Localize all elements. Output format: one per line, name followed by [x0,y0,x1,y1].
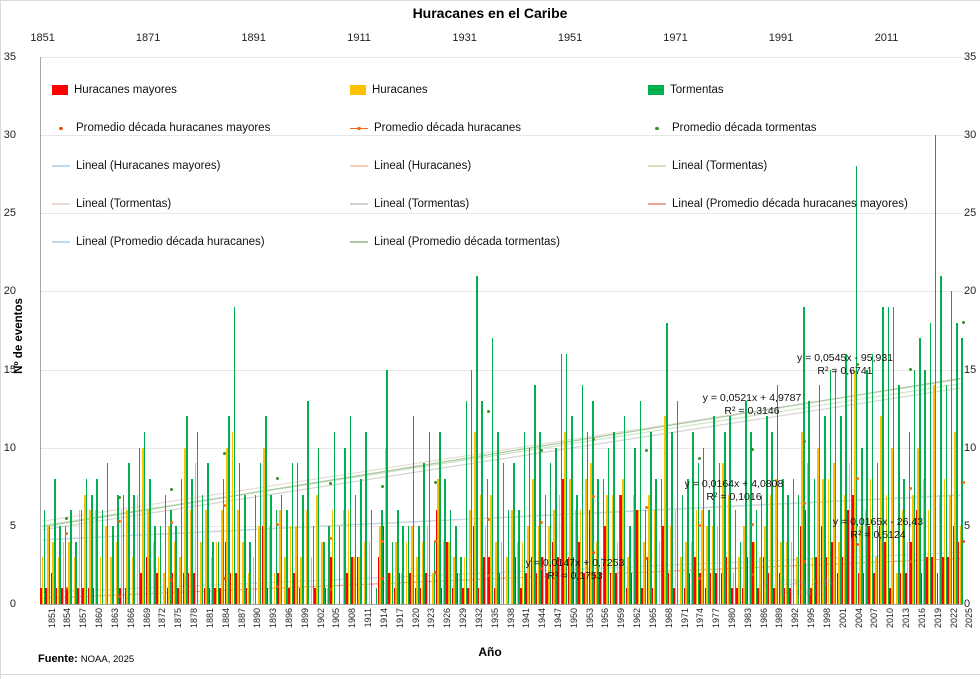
bar [402,526,404,604]
r-squared-text: R² = 0,3421 [763,588,836,598]
y-axis-tick-right: 35 [964,51,980,63]
y-axis-tick-right: 20 [964,285,980,297]
x-axis-tick: 1857 [78,608,88,628]
x-axis-tick: 1956 [600,608,610,628]
legend-label: Lineal (Promedio década huracanes) [76,236,265,248]
y-axis-tick-right: 10 [964,442,980,454]
x-axis-tick: 1872 [157,608,167,628]
legend-row: Lineal (Tormentas)Lineal (Tormentas)Line… [52,198,942,236]
top-rule [0,0,980,1]
source-label: Fuente [38,653,74,665]
bar [429,432,431,604]
decade-average-marker [118,595,121,598]
x-axis-tick: 1881 [205,608,215,628]
legend-row: Lineal (Huracanes mayores)Lineal (Huraca… [52,160,942,198]
source-value: NOAA, 2025 [81,654,134,665]
legend-lineal-tormentas-1[interactable]: Lineal (Tormentas) [648,160,767,172]
y-axis-tick-left: 5 [0,520,16,532]
x-axis-tick: 1938 [506,608,516,628]
legend-promedio-decada-huracanes-mayores[interactable]: Promedio década huracanes mayores [52,122,270,134]
legend-row: Lineal (Promedio década huracanes)Lineal… [52,236,942,274]
decade-average-marker [698,457,701,460]
bar [508,510,510,604]
r-squared-text: R² = 0,6741 [797,365,893,378]
bar [107,463,109,604]
bar [265,416,267,604]
x-axis-tick: 1878 [189,608,199,628]
eq-huracanes-mayores: y = 0,0147x + 0,7253R² = 0,1753 [526,557,625,583]
decade-average-marker [487,518,490,521]
top-axis-tick: 1931 [452,32,476,44]
legend-label: Promedio década huracanes mayores [76,122,270,134]
x-axis-tick: 1890 [252,608,262,628]
x-axis-tick: 1917 [395,608,405,628]
x-axis-tick: 1977 [711,608,721,628]
x-axis-tick: 1854 [62,608,72,628]
legend-huracanes-mayores[interactable]: Huracanes mayores [52,84,177,96]
y-axis-tick-left: 30 [0,129,16,141]
x-axis-tick: 2001 [838,608,848,628]
legend-lineal-promedio-decada-huracanes[interactable]: Lineal (Promedio década huracanes) [52,236,265,248]
page-title: Huracanes en el Caribe [0,5,980,21]
x-axis-tick: 1947 [553,608,563,628]
r-squared-text: R² = 0,1753 [526,570,625,583]
bar [671,432,673,604]
decade-average-marker [329,482,332,485]
bar [386,370,388,604]
x-axis-tick: 1995 [806,608,816,628]
equation-text: y = 0,0147x + 0,7253 [526,557,625,570]
x-axis-tick: 1896 [284,608,294,628]
x-axis-tick: 2013 [901,608,911,628]
decade-average-marker [909,368,912,371]
x-axis-tick: 1923 [426,608,436,628]
decade-average-marker [962,481,965,484]
bar [492,338,494,604]
y-axis-tick-right: 15 [964,364,980,376]
x-axis-tick: 1974 [695,608,705,628]
top-axis-tick: 1951 [558,32,582,44]
legend-promedio-decada-tormentas[interactable]: Promedio década tormentas [648,122,816,134]
legend-marker-icon [648,125,666,132]
x-axis-tick: 1986 [759,608,769,628]
equation-text: y = 0,0164x + 4,0808 [685,478,784,491]
r-squared-text: R² = 0,5124 [833,529,923,542]
bar [86,479,88,604]
x-axis-tick: 1911 [363,608,373,627]
equation-text: y = 0,0545x - 95,931 [797,352,893,365]
top-axis-tick: 1991 [769,32,793,44]
x-axis-tick: 1983 [743,608,753,628]
x-axis-tick: 2022 [949,608,959,628]
bar [413,416,415,604]
legend-swatch-icon [648,85,664,95]
bar [334,432,336,604]
bar [234,307,236,604]
decade-average-marker [65,587,68,590]
source-note: Fuente: NOAA, 2025 [38,653,134,665]
legend-label: Promedio década huracanes [374,122,521,134]
bar [149,479,151,604]
y-axis-tick-left: 20 [0,285,16,297]
legend-lineal-promedio-decada-tormentas[interactable]: Lineal (Promedio década tormentas) [350,236,560,248]
decade-average-marker [909,487,912,490]
bar [703,448,705,604]
x-axis-tick: 1920 [411,608,421,628]
bar [160,526,162,604]
x-axis-tick: 1851 [47,608,57,628]
x-axis-tick: 1863 [110,608,120,628]
legend-line-icon [350,241,368,243]
x-axis-tick: 1869 [142,608,152,628]
legend-line-icon [350,165,368,167]
legend-label: Tormentas [670,84,724,96]
bar [360,479,362,604]
bar [197,432,199,604]
left-rule [0,0,1,679]
decade-average-marker [751,573,754,576]
bar [898,385,900,604]
x-axis-tick: 2025 [964,608,974,628]
x-axis-tick: 2004 [854,608,864,628]
x-axis-tick: 2007 [869,608,879,628]
x-axis-tick: 1884 [221,608,231,628]
legend-row: Promedio década huracanes mayoresPromedi… [52,122,942,160]
legend-label: Lineal (Tormentas) [374,198,469,210]
legend-marker-icon [350,125,368,132]
gridline [40,604,963,605]
equation-text: y = 0,0521x + 4,9787 [703,392,802,405]
decade-average-marker [434,481,437,484]
legend-line-icon [52,241,70,243]
bar [239,463,241,604]
top-axis-tick: 1871 [136,32,160,44]
legend-row: Huracanes mayoresHuracanesTormentas [52,84,942,122]
legend-line-icon [52,203,70,205]
bar [729,416,731,604]
top-axis-tick: 1971 [663,32,687,44]
top-axis-tick: 1851 [30,32,54,44]
x-axis-tick: 1899 [300,608,310,628]
x-axis-tick: 1932 [474,608,484,628]
x-axis-tick: 1992 [790,608,800,628]
legend-line-icon [350,203,368,205]
x-axis-tick: 1926 [442,608,452,628]
bar [207,463,209,604]
legend-lineal-promedio-decada-huracanes-mayores[interactable]: Lineal (Promedio década huracanes mayore… [648,198,908,210]
legend-label: Lineal (Promedio década tormentas) [374,236,560,248]
y-axis-tick-left: 10 [0,442,16,454]
x-axis-tick: 1959 [616,608,626,628]
chart-legend: Huracanes mayoresHuracanesTormentasProme… [52,84,942,274]
x-axis-tick: 1941 [521,608,531,628]
x-axis-tick: 1905 [331,608,341,628]
bar [893,307,895,604]
bar [54,479,56,604]
bar [655,479,657,604]
legend-line-icon [648,203,666,205]
bar [128,463,130,604]
x-axis-tick: 2016 [917,608,927,628]
top-axis-tick: 1911 [347,32,371,44]
decade-average-marker [65,517,68,520]
y-axis-tick-left: 35 [0,51,16,63]
bar [940,276,942,604]
y-axis-tick-right: 30 [964,129,980,141]
bar [640,401,642,604]
eq-huracanes-mayores-decada: y = 0,0146x - 26,658R² = 0,3421 [763,578,836,598]
bar [297,463,299,604]
bar [307,401,309,604]
x-axis-tick: 1989 [774,608,784,628]
legend-label: Lineal (Tormentas) [76,198,171,210]
source-colon: : [74,653,81,665]
bar [371,510,373,604]
top-axis-tick: 1891 [241,32,265,44]
x-axis-tick: 1935 [490,608,500,628]
decade-average-marker [540,449,543,452]
x-axis-tick: 1929 [458,608,468,628]
x-axis-tick: 1965 [648,608,658,628]
equation-text: y = 0,0165x - 26,43 [833,516,923,529]
bar [677,401,679,604]
bar [666,323,668,604]
legend-lineal-huracanes[interactable]: Lineal (Huracanes) [350,160,471,172]
bar [70,510,72,604]
x-axis-tick: 2019 [933,608,943,628]
top-axis: 185118711891191119311951197119912011 [0,32,980,48]
decade-average-marker [540,521,543,524]
bar [102,510,104,604]
eq-tormentas: y = 0,0521x + 4,9787R² = 0,3146 [703,392,802,418]
legend-promedio-decada-huracanes[interactable]: Promedio década huracanes [350,122,521,134]
r-squared-text: R² = 0,3146 [703,405,802,418]
x-axis-tick: 1962 [632,608,642,628]
legend-swatch-icon [350,85,366,95]
legend-lineal-huracanes-mayores[interactable]: Lineal (Huracanes mayores) [52,160,220,172]
bar [439,432,441,604]
decade-average-marker [276,523,279,526]
x-axis-tick: 1998 [822,608,832,628]
legend-tormentas[interactable]: Tormentas [648,84,724,96]
bar [961,338,963,604]
eq-huracanes: y = 0,0164x + 4,0808R² = 0,1016 [685,478,784,504]
x-axis-tick: 1950 [569,608,579,628]
x-axis-tick: 1887 [237,608,247,628]
x-axis-tick: 1980 [727,608,737,628]
legend-swatch-icon [52,85,68,95]
x-axis-tick: 1893 [268,608,278,628]
bar [466,401,468,604]
y-axis-tick-left: 25 [0,207,16,219]
bar [302,495,304,604]
x-axis-tick: 1944 [537,608,547,628]
x-axis-tick: 1971 [680,608,690,628]
legend-label: Huracanes mayores [74,84,177,96]
bar [281,495,283,604]
bar [365,432,367,604]
x-axis-tick: 1866 [126,608,136,628]
bar [919,338,921,604]
bar [339,526,341,604]
y-axis-tick-left: 15 [0,364,16,376]
bottom-rule [0,674,980,675]
x-axis-tick: 1953 [585,608,595,628]
x-axis-tick: 1908 [347,608,357,628]
decade-average-marker [751,448,754,451]
x-axis-tick: 1875 [173,608,183,628]
bar [503,463,505,604]
decade-average-marker [962,321,965,324]
y-axis-tick-right: 5 [964,520,980,532]
bar [249,542,251,605]
x-axis-tick: 1902 [316,608,326,628]
eq-tormentas-decada: y = 0,0545x - 95,931R² = 0,6741 [797,352,893,378]
legend-marker-icon [52,125,70,132]
legend-line-icon [648,165,666,167]
r-squared-text: R² = 0,1016 [685,491,784,504]
bar [270,495,272,604]
legend-label: Lineal (Huracanes) [374,160,471,172]
x-axis-title: Año [0,645,980,659]
bar [872,354,874,604]
eq-huracanes-decada: y = 0,0165x - 26,43R² = 0,5124 [833,516,923,542]
legend-label: Lineal (Promedio década huracanes mayore… [672,198,908,210]
bar [476,276,478,604]
legend-label: Lineal (Tormentas) [672,160,767,172]
y-axis-tick-left: 0 [0,598,16,610]
chart-page: Huracanes en el Caribe 18511871189119111… [0,0,980,679]
bar [255,495,257,604]
bar [808,401,810,604]
x-axis-tick: 2010 [885,608,895,628]
bar [133,495,135,604]
bar [112,526,114,604]
decade-average-marker [118,496,121,499]
bar [650,432,652,604]
x-axis-tick: 1914 [379,608,389,628]
bar [318,448,320,604]
bar [96,479,98,604]
decade-average-marker [962,540,965,543]
equation-text: y = 0,0146x - 26,658 [763,578,836,588]
decade-average-marker [329,537,332,540]
legend-lineal-tormentas-2[interactable]: Lineal (Tormentas) [52,198,171,210]
decade-average-marker [751,523,754,526]
y-axis-tick-right: 25 [964,207,980,219]
legend-label: Promedio década tormentas [672,122,816,134]
legend-huracanes[interactable]: Huracanes [350,84,428,96]
decade-average-marker [118,520,121,523]
legend-label: Lineal (Huracanes mayores) [76,160,220,172]
bar [835,370,837,604]
legend-label: Huracanes [372,84,428,96]
x-axis-tick: 1860 [94,608,104,628]
legend-lineal-tormentas-3[interactable]: Lineal (Tormentas) [350,198,469,210]
top-axis-tick: 2011 [875,32,899,44]
legend-line-icon [52,165,70,167]
decade-average-marker [645,506,648,509]
x-axis-tick: 1968 [664,608,674,628]
